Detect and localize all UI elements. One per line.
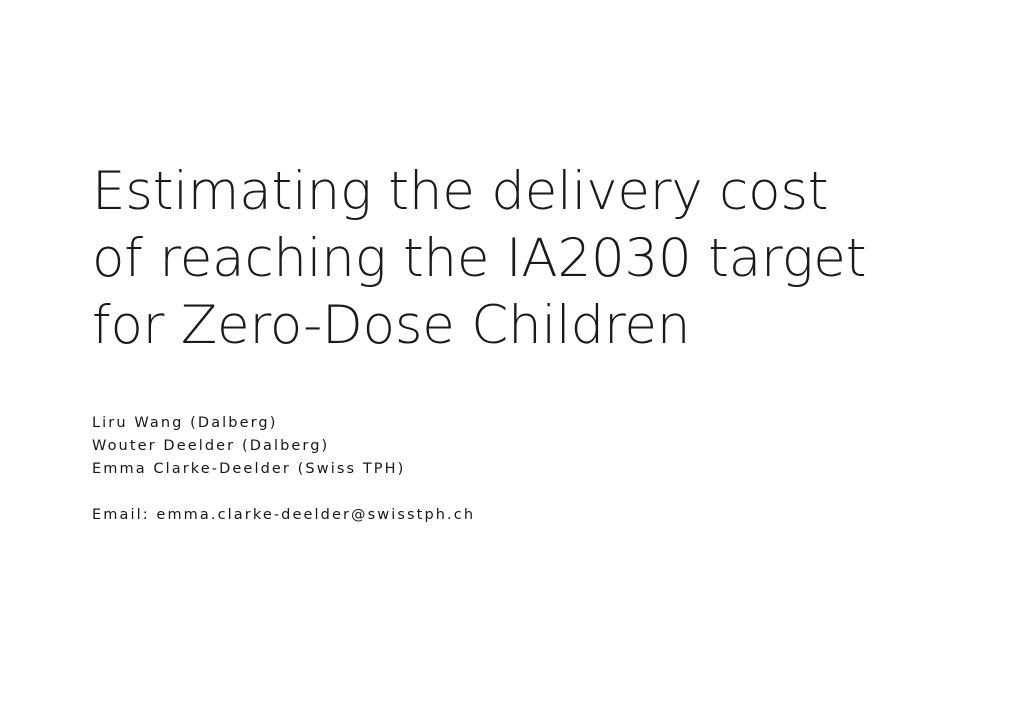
author-line: Liru Wang (Dalberg) — [92, 412, 812, 435]
title-block: Estimating the delivery cost of reaching… — [92, 158, 882, 359]
title-slide: Estimating the delivery cost of reaching… — [0, 0, 1028, 709]
page-title: Estimating the delivery cost of reaching… — [92, 158, 882, 359]
author-line: Wouter Deelder (Dalberg) — [92, 435, 812, 458]
contact-email: Email: emma.clarke-deelder@swisstph.ch — [92, 504, 852, 527]
contact-block: Email: emma.clarke-deelder@swisstph.ch — [92, 504, 852, 527]
author-line: Emma Clarke-Deelder (Swiss TPH) — [92, 458, 812, 481]
author-list: Liru Wang (Dalberg) Wouter Deelder (Dalb… — [92, 412, 812, 481]
